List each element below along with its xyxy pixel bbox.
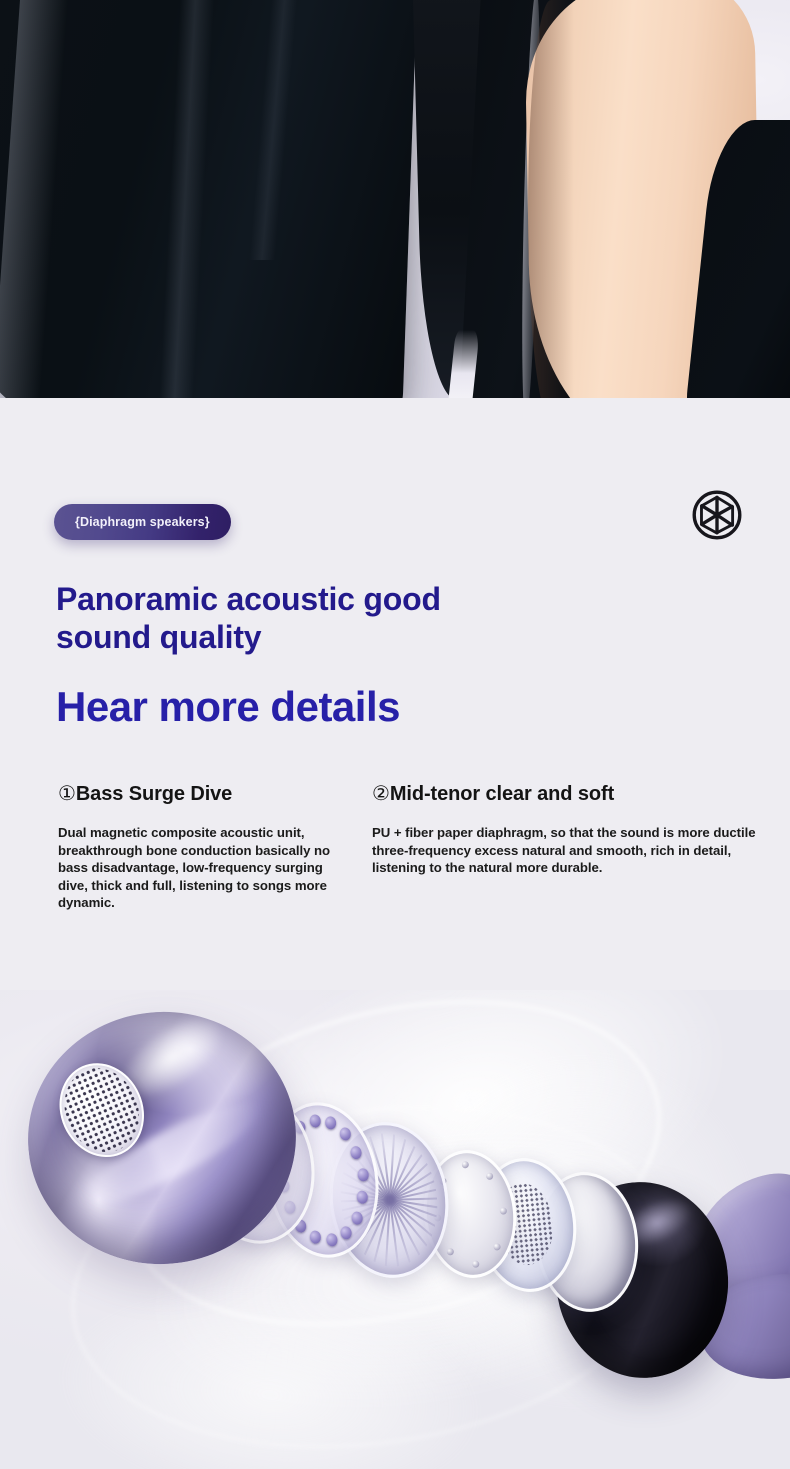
hero-lifestyle-photo	[0, 0, 790, 400]
feature-columns: ①Bass Surge Dive Dual magnetic composite…	[0, 782, 790, 912]
feature-1-title: ①Bass Surge Dive	[58, 782, 356, 806]
driver-plate-screw-hole	[447, 1248, 455, 1256]
feature-column-2: ②Mid-tenor clear and soft PU + fiber pap…	[372, 782, 790, 912]
feature-column-1: ①Bass Surge Dive Dual magnetic composite…	[0, 782, 372, 912]
product-exploded-view	[0, 990, 790, 1469]
feature-2-title: ②Mid-tenor clear and soft	[372, 782, 762, 806]
driver-plate-screw-hole	[461, 1160, 469, 1168]
camera-aperture-icon	[690, 488, 744, 542]
feature-1-number: ①	[58, 783, 76, 805]
driver-plate-screw-hole	[471, 1260, 479, 1268]
feature-1-title-text: Bass Surge Dive	[76, 783, 232, 805]
feature-2-body: PU + fiber paper diaphragm, so that the …	[372, 824, 762, 877]
headline-block: Panoramic acoustic good sound quality He…	[56, 580, 756, 732]
driver-plate-screw-hole	[499, 1207, 507, 1215]
headline-primary: Panoramic acoustic good sound quality	[56, 580, 526, 656]
feature-2-number: ②	[372, 783, 390, 805]
arm-shadow	[528, 0, 574, 400]
driver-plate-screw-hole	[493, 1243, 501, 1251]
diaphragm-speakers-badge: {Diaphragm speakers}	[54, 504, 231, 540]
badge-row: {Diaphragm speakers}	[0, 504, 790, 564]
feature-2-title-text: Mid-tenor clear and soft	[390, 783, 614, 805]
driver-plate-screw-hole	[486, 1173, 494, 1181]
feature-1-body: Dual magnetic composite acoustic unit, b…	[58, 824, 356, 912]
hero-photo-bottom-edge	[0, 398, 790, 402]
headline-secondary: Hear more details	[56, 682, 756, 732]
product-detail-page: {Diaphragm speakers}	[0, 0, 790, 1469]
